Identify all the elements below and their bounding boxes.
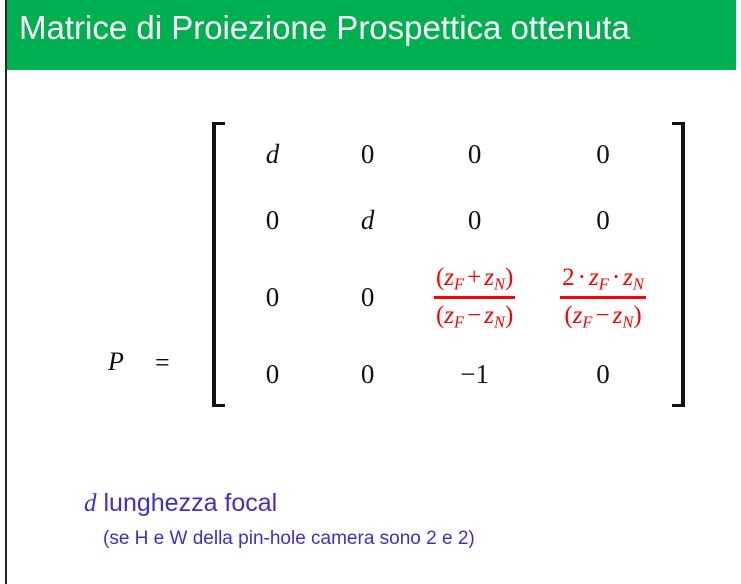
- matrix-cell-r2c3: 0: [468, 207, 482, 234]
- matrix-grid: d 0 0 0 0 d 0 0 0 0 (zF+zN) (zF−zN) 2·zF…: [225, 122, 672, 407]
- focal-length-label: lunghezza focal: [104, 489, 278, 517]
- page-title: Matrice di Proiezione Prospettica ottenu…: [19, 8, 630, 48]
- matrix-equation: P = d 0 0 0 0 d 0 0 0 0 (zF+zN) (zF−zN) …: [0, 100, 741, 430]
- equals-sign: =: [155, 348, 170, 378]
- matrix-bracket-left: [212, 122, 225, 407]
- matrix-cell-r3c3-fraction: (zF+zN) (zF−zN): [434, 264, 515, 331]
- matrix-bracket-right: [672, 122, 685, 407]
- matrix-cell-r4c2: 0: [361, 361, 375, 388]
- fraction-b-denominator: (zF−zN): [560, 299, 646, 331]
- focal-length-caption: dlunghezza focal: [84, 489, 277, 518]
- matrix-cell-r3c2: 0: [361, 284, 375, 311]
- matrix-cell-r4c1: 0: [266, 361, 280, 388]
- slide-title-banner: Matrice di Proiezione Prospettica ottenu…: [7, 0, 736, 70]
- matrix-cell-r1c2: 0: [361, 141, 375, 168]
- fraction-b-numerator: 2·zF·zN: [560, 264, 646, 296]
- matrix-cell-r1c4: 0: [596, 141, 610, 168]
- matrix-label-P: P: [108, 347, 124, 377]
- matrix-cell-r3c4-fraction: 2·zF·zN (zF−zN): [560, 264, 646, 331]
- matrix-cell-r4c3: −1: [460, 361, 489, 388]
- pinhole-note: (se H e W della pin-hole camera sono 2 e…: [103, 528, 475, 550]
- matrix-cell-r1c1: d: [266, 141, 280, 168]
- matrix-cell-r2c4: 0: [596, 207, 610, 234]
- matrix-cell-r2c1: 0: [266, 207, 280, 234]
- matrix-cell-r4c4: 0: [596, 361, 610, 388]
- focal-length-symbol: d: [84, 490, 104, 517]
- matrix-cell-r3c1: 0: [266, 284, 280, 311]
- matrix-cell-r2c2: d: [361, 207, 375, 234]
- fraction-a-denominator: (zF−zN): [434, 299, 515, 331]
- matrix-cell-r1c3: 0: [468, 141, 482, 168]
- fraction-a-numerator: (zF+zN): [434, 264, 515, 296]
